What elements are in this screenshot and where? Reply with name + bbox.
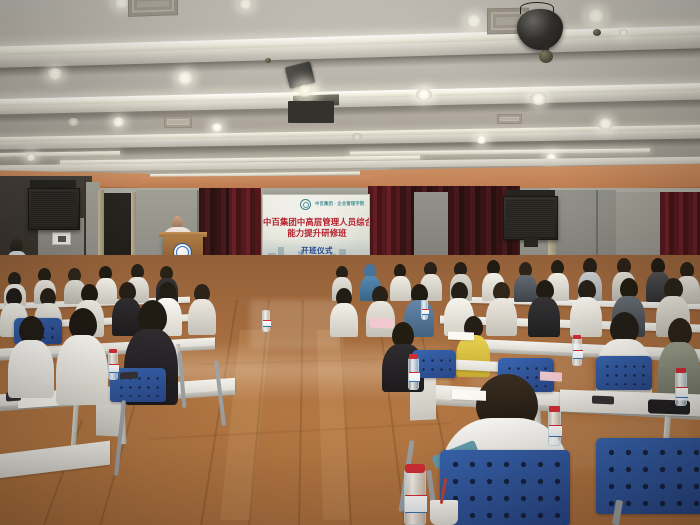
- air-vent-icon-4: [497, 114, 522, 124]
- downlight-14: [211, 123, 223, 132]
- downlight-4: [465, 14, 483, 28]
- downlight-11: [598, 118, 613, 130]
- torso: [56, 335, 108, 405]
- downlight-6: [47, 68, 63, 80]
- handout: [452, 389, 486, 401]
- audience-member: [330, 288, 358, 334]
- bottle-cap: [549, 406, 560, 412]
- downlight-15: [476, 135, 487, 144]
- air-vent-icon-3: [164, 116, 192, 128]
- chair-back: [596, 356, 652, 390]
- water-bottle: [572, 338, 582, 366]
- downlight-7: [176, 71, 194, 85]
- chair-perforations: [417, 354, 451, 373]
- slide-organization-logo-icon: [300, 199, 311, 210]
- water-bottle: [108, 352, 118, 380]
- bottle-cap: [109, 349, 117, 353]
- bottle-cap: [573, 335, 581, 339]
- bottle-cap: [409, 354, 418, 359]
- torso: [8, 340, 54, 398]
- conference-room-photo: 中百集团 · 企业管理学院 中百集团中高层管理人员综合 能力提升研修班 开班仪式…: [0, 0, 700, 525]
- water-bottle: [408, 358, 419, 390]
- soffit-band-center: [140, 175, 370, 188]
- bottle-label: [573, 350, 583, 359]
- torso: [188, 299, 216, 335]
- loudspeaker-left-grill: [31, 191, 77, 227]
- paper-cup: [430, 500, 458, 525]
- slide-title-line-2: 能力提升研修班: [263, 227, 370, 239]
- water-bottle: [404, 470, 426, 525]
- torso: [486, 298, 517, 336]
- water-bottle: [548, 410, 561, 446]
- slide-organization-name: 中百集团 · 企业管理学院: [315, 201, 364, 207]
- downlight-5: [619, 29, 628, 36]
- air-vent-icon-1: [128, 0, 178, 17]
- projector-base: [288, 101, 334, 123]
- water-bottle: [421, 300, 428, 320]
- handout: [540, 371, 562, 381]
- chair-perforations: [445, 454, 565, 520]
- foreground-chair-back-left: [440, 450, 570, 525]
- mobile-device: [120, 372, 138, 380]
- bottle-label: [549, 425, 562, 437]
- bottle-label: [422, 309, 429, 315]
- slide-logo-inner-ring: [303, 202, 309, 208]
- audience-member: [56, 308, 108, 400]
- downlight-12: [112, 117, 125, 127]
- bottle-label: [676, 387, 688, 398]
- downlight-9: [416, 88, 432, 101]
- torso: [528, 297, 560, 337]
- speaker-stand-right: [524, 239, 538, 247]
- ceiling-sensor-icon-2: [265, 58, 271, 63]
- audience-member: [486, 282, 517, 334]
- water-bottle: [675, 372, 687, 406]
- bottle-label: [409, 372, 420, 382]
- handout: [370, 317, 394, 328]
- foreground-chair-back-right: [596, 438, 700, 514]
- bottle-cap: [405, 464, 425, 473]
- torso: [330, 303, 358, 337]
- loudspeaker-right-grill: [506, 199, 555, 237]
- bottle-cap: [676, 368, 686, 373]
- projector-lens: [297, 83, 313, 99]
- bottle-label: [109, 364, 119, 373]
- dome-camera-mount: [539, 50, 553, 63]
- mobile-device: [592, 396, 614, 405]
- downlight-10: [530, 92, 547, 105]
- audience-member: [188, 284, 216, 334]
- downlight-16: [352, 133, 362, 141]
- downlight-13: [68, 118, 79, 126]
- notebook: [448, 332, 474, 341]
- ceiling-sensor-icon: [593, 29, 601, 36]
- audience-member: [528, 280, 560, 334]
- downlight-3: [586, 8, 606, 24]
- bottle-label: [405, 495, 427, 513]
- chair-perforations: [601, 442, 700, 509]
- wall-sign-inner: [58, 236, 66, 242]
- water-bottle: [262, 310, 270, 332]
- bottle-label: [263, 320, 271, 327]
- downlight-17: [26, 153, 36, 161]
- chair-perforations: [601, 360, 647, 385]
- audience-member: [8, 316, 54, 392]
- chair-back: [110, 368, 166, 402]
